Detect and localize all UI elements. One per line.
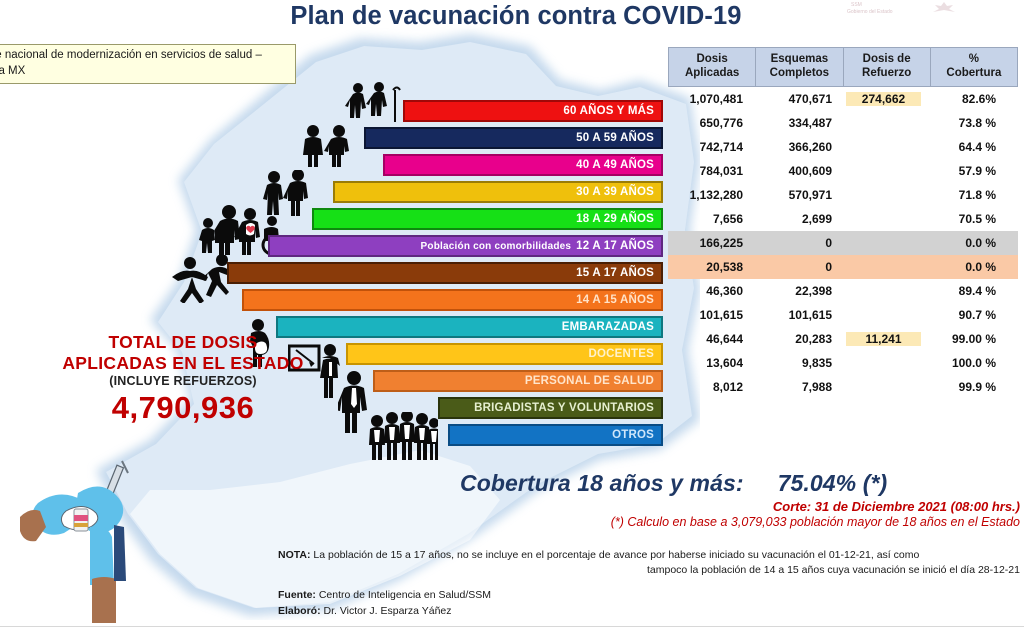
bar-9[interactable]: EMBARAZADAS [276,316,663,338]
cell-esquemas-completos: 2,699 [757,212,846,226]
vaccination-table: DosisAplicadas EsquemasCompletos Dosis d… [668,47,1018,399]
elaboro-value: Dr. Victor J. Esparza Yáñez [324,605,452,617]
table-row[interactable]: 784,031400,60957.9 % [668,159,1018,183]
bar-2[interactable]: 50 A 59 AÑOS [364,127,663,149]
bar-4[interactable]: 30 A 39 AÑOS [333,181,663,203]
cutoff-value: 31 de Diciembre 2021 (08:00 hrs.) [815,499,1020,514]
table-row[interactable]: 742,714366,26064.4 % [668,135,1018,159]
cutoff-line: Corte: 31 de Diciembre 2021 (08:00 hrs.) [460,499,1024,514]
bar-label-13: OTROS [612,429,654,441]
cell-dosis-aplicadas: 166,225 [668,236,757,250]
col-header-dosis-aplicadas: DosisAplicadas [669,48,756,86]
bar-6[interactable]: Población con comorbilidades12 A 17 AÑOS [268,235,663,257]
table-row[interactable]: 1,132,280570,97171.8 % [668,183,1018,207]
cell-dosis-aplicadas: 46,360 [668,284,757,298]
cell-dosis-aplicadas: 101,615 [668,308,757,322]
cell-dosis-aplicadas: 46,644 [668,332,757,346]
bar-label-10: DOCENTES [589,348,655,360]
cell-dosis-aplicadas: 784,031 [668,164,757,178]
bar-label-2: 50 A 59 AÑOS [576,132,654,144]
bar-11[interactable]: PERSONAL DE SALUD [373,370,663,392]
cell-cobertura: 71.8 % [921,188,1018,202]
cell-cobertura: 100.0 % [921,356,1018,370]
bar-label-8: 14 A 15 AÑOS [576,294,654,306]
cell-esquemas-completos: 570,971 [757,188,846,202]
cell-esquemas-completos: 20,283 [757,332,846,346]
cell-esquemas-completos: 9,835 [757,356,846,370]
bar-7[interactable]: 15 A 17 AÑOS [227,262,663,284]
col-header-cobertura: %Cobertura [931,48,1017,86]
table-row[interactable]: 8,0127,98899.9 % [668,375,1018,399]
bar-prefix-6: Población con comorbilidades [421,241,572,252]
bar-1[interactable]: 60 AÑOS Y MÁS [403,100,663,122]
eagle-emblem-icon [931,1,957,15]
logo-text-gov: Gobierno del Estado [847,9,893,15]
cell-cobertura: 64.4 % [921,140,1018,154]
cell-dosis-aplicadas: 1,070,481 [668,92,757,106]
table-row[interactable]: 1,070,481470,671274,66282.6% [668,87,1018,111]
cell-esquemas-completos: 366,260 [757,140,846,154]
bar-10[interactable]: DOCENTES [346,343,663,365]
institutional-logo-band: SSM Gobierno del Estado [845,0,1024,16]
cell-esquemas-completos: 101,615 [757,308,846,322]
bar-12[interactable]: BRIGADISTAS Y VOLUNTARIOS [438,397,663,419]
cell-cobertura: 99.00 % [921,332,1018,346]
cell-esquemas-completos: 400,609 [757,164,846,178]
table-row[interactable]: 13,6049,835100.0 % [668,351,1018,375]
cutoff-label: Corte: [773,499,811,514]
cell-dosis-aplicadas: 13,604 [668,356,757,370]
cell-esquemas-completos: 334,487 [757,116,846,130]
calculation-note: (*) Calculo en base a 3,079,033 població… [460,515,1024,529]
note-label: NOTA: [278,549,310,561]
bar-8[interactable]: 14 A 15 AÑOS [242,289,663,311]
bar-label-3: 40 A 49 AÑOS [576,159,654,171]
cell-dosis-aplicadas: 1,132,280 [668,188,757,202]
coverage-label: Cobertura 18 años y más: [460,470,744,496]
bar-label-12: BRIGADISTAS Y VOLUNTARIOS [474,402,654,414]
table-row[interactable]: 46,36022,39889.4 % [668,279,1018,303]
elaboro-label: Elaboró: [278,605,321,617]
cell-cobertura: 0.0 % [921,260,1018,274]
infographic-page: SSM Gobierno del Estado Plan de vacunaci… [0,0,1024,631]
fuente-value: Centro de Inteligencia en Salud/SSM [319,589,491,601]
bar-label-6: 12 A 17 AÑOS [576,240,654,252]
source-fuente: Fuente: Centro de Inteligencia en Salud/… [278,588,491,604]
bar-5[interactable]: 18 A 29 AÑOS [312,208,663,230]
coverage-summary: Cobertura 18 años y más:75.04% (*) Corte… [460,470,1024,529]
bottom-divider [0,626,1024,631]
cell-cobertura: 99.9 % [921,380,1018,394]
bar-label-4: 30 A 39 AÑOS [576,186,654,198]
refuerzo-highlight: 274,662 [846,92,921,106]
source-elaboro: Elaboró: Dr. Victor J. Esparza Yáñez [278,604,491,620]
col-header-esquemas-completos: EsquemasCompletos [756,48,843,86]
bar-label-7: 15 A 17 AÑOS [576,267,654,279]
bar-label-1: 60 AÑOS Y MÁS [563,105,654,117]
coverage-percent: 75.04% (*) [778,470,888,496]
note-line1: NOTA: La población de 15 a 17 años, no s… [278,548,1020,563]
cell-cobertura: 90.7 % [921,308,1018,322]
source-block: Fuente: Centro de Inteligencia en Salud/… [278,588,491,620]
coverage-line: Cobertura 18 años y más:75.04% (*) [460,470,1024,497]
cell-esquemas-completos: 0 [757,260,846,274]
note-text1: La población de 15 a 17 años, no se incl… [313,549,919,561]
category-bars-group: 60 AÑOS Y MÁS50 A 59 AÑOS40 A 49 AÑOS30 … [0,0,668,631]
cell-dosis-aplicadas: 650,776 [668,116,757,130]
table-row[interactable]: 20,53800.0 % [668,255,1018,279]
cell-esquemas-completos: 22,398 [757,284,846,298]
cell-esquemas-completos: 7,988 [757,380,846,394]
note-block: NOTA: La población de 15 a 17 años, no s… [278,548,1020,578]
fuente-label: Fuente: [278,589,316,601]
bar-label-9: EMBARAZADAS [562,321,654,333]
logo-text-ssm: SSM [851,2,862,8]
table-header-row: DosisAplicadas EsquemasCompletos Dosis d… [668,47,1018,87]
cell-dosis-refuerzo: 274,662 [846,92,921,106]
cell-cobertura: 70.5 % [921,212,1018,226]
note-line2: tampoco la población de 14 a 15 años cuy… [278,563,1020,578]
cell-esquemas-completos: 0 [757,236,846,250]
cell-dosis-aplicadas: 8,012 [668,380,757,394]
table-row[interactable]: 166,22500.0 % [668,231,1018,255]
cell-esquemas-completos: 470,671 [757,92,846,106]
cell-cobertura: 89.4 % [921,284,1018,298]
cell-cobertura: 82.6% [921,92,1018,106]
table-row[interactable]: 101,615101,61590.7 % [668,303,1018,327]
table-row[interactable]: 650,776334,48773.8 % [668,111,1018,135]
cell-dosis-aplicadas: 742,714 [668,140,757,154]
table-body: 1,070,481470,671274,66282.6%650,776334,4… [668,87,1018,399]
table-row[interactable]: 7,6562,69970.5 % [668,207,1018,231]
cell-dosis-aplicadas: 20,538 [668,260,757,274]
bar-3[interactable]: 40 A 49 AÑOS [383,154,663,176]
cell-cobertura: 57.9 % [921,164,1018,178]
col-header-dosis-refuerzo: Dosis deRefuerzo [844,48,931,86]
refuerzo-highlight: 11,241 [846,332,921,346]
bar-13[interactable]: OTROS [448,424,663,446]
cell-dosis-aplicadas: 7,656 [668,212,757,226]
table-row[interactable]: 46,64420,28311,24199.00 % [668,327,1018,351]
cell-cobertura: 73.8 % [921,116,1018,130]
bar-label-11: PERSONAL DE SALUD [525,375,654,387]
cell-dosis-refuerzo: 11,241 [846,332,921,346]
bar-label-5: 18 A 29 AÑOS [576,213,654,225]
cell-cobertura: 0.0 % [921,236,1018,250]
